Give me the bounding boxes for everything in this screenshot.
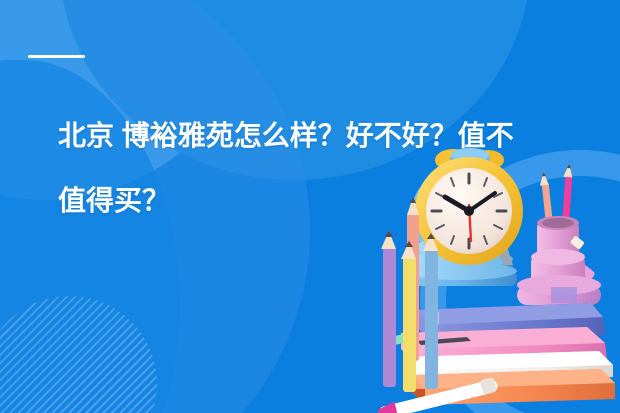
pencil-purple bbox=[381, 231, 396, 387]
pencil-yellow bbox=[401, 241, 416, 392]
book-stack bbox=[391, 303, 615, 405]
pencil-blue bbox=[423, 233, 438, 389]
study-desk-3d-illustration bbox=[355, 145, 620, 413]
pencil-holder-cup bbox=[517, 164, 601, 305]
white-underline-rule bbox=[28, 55, 85, 58]
promo-banner: 北京 博裕雅苑怎么样？好不好？值不值得买？ bbox=[0, 0, 620, 413]
